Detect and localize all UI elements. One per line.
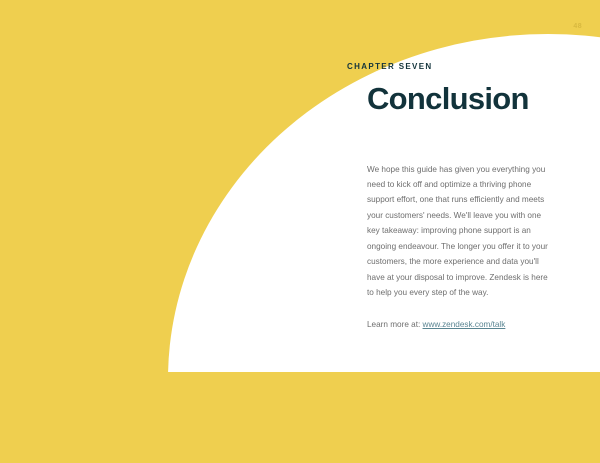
body-block: We hope this guide has given you everyth… (367, 162, 552, 333)
ebook-page: 48 CHAPTER SEVEN Conclusion We hope this… (0, 0, 600, 463)
page-title: Conclusion (367, 83, 562, 116)
chapter-eyebrow: CHAPTER SEVEN (347, 62, 562, 71)
page-content: CHAPTER SEVEN Conclusion We hope this gu… (347, 0, 562, 333)
bottom-yellow-band (0, 372, 600, 463)
learn-more-line: Learn more at: www.zendesk.com/talk (367, 317, 552, 332)
body-paragraph: We hope this guide has given you everyth… (367, 162, 552, 301)
zendesk-talk-link[interactable]: www.zendesk.com/talk (423, 320, 506, 329)
learn-more-prefix: Learn more at: (367, 320, 423, 329)
page-number: 48 (573, 23, 582, 30)
